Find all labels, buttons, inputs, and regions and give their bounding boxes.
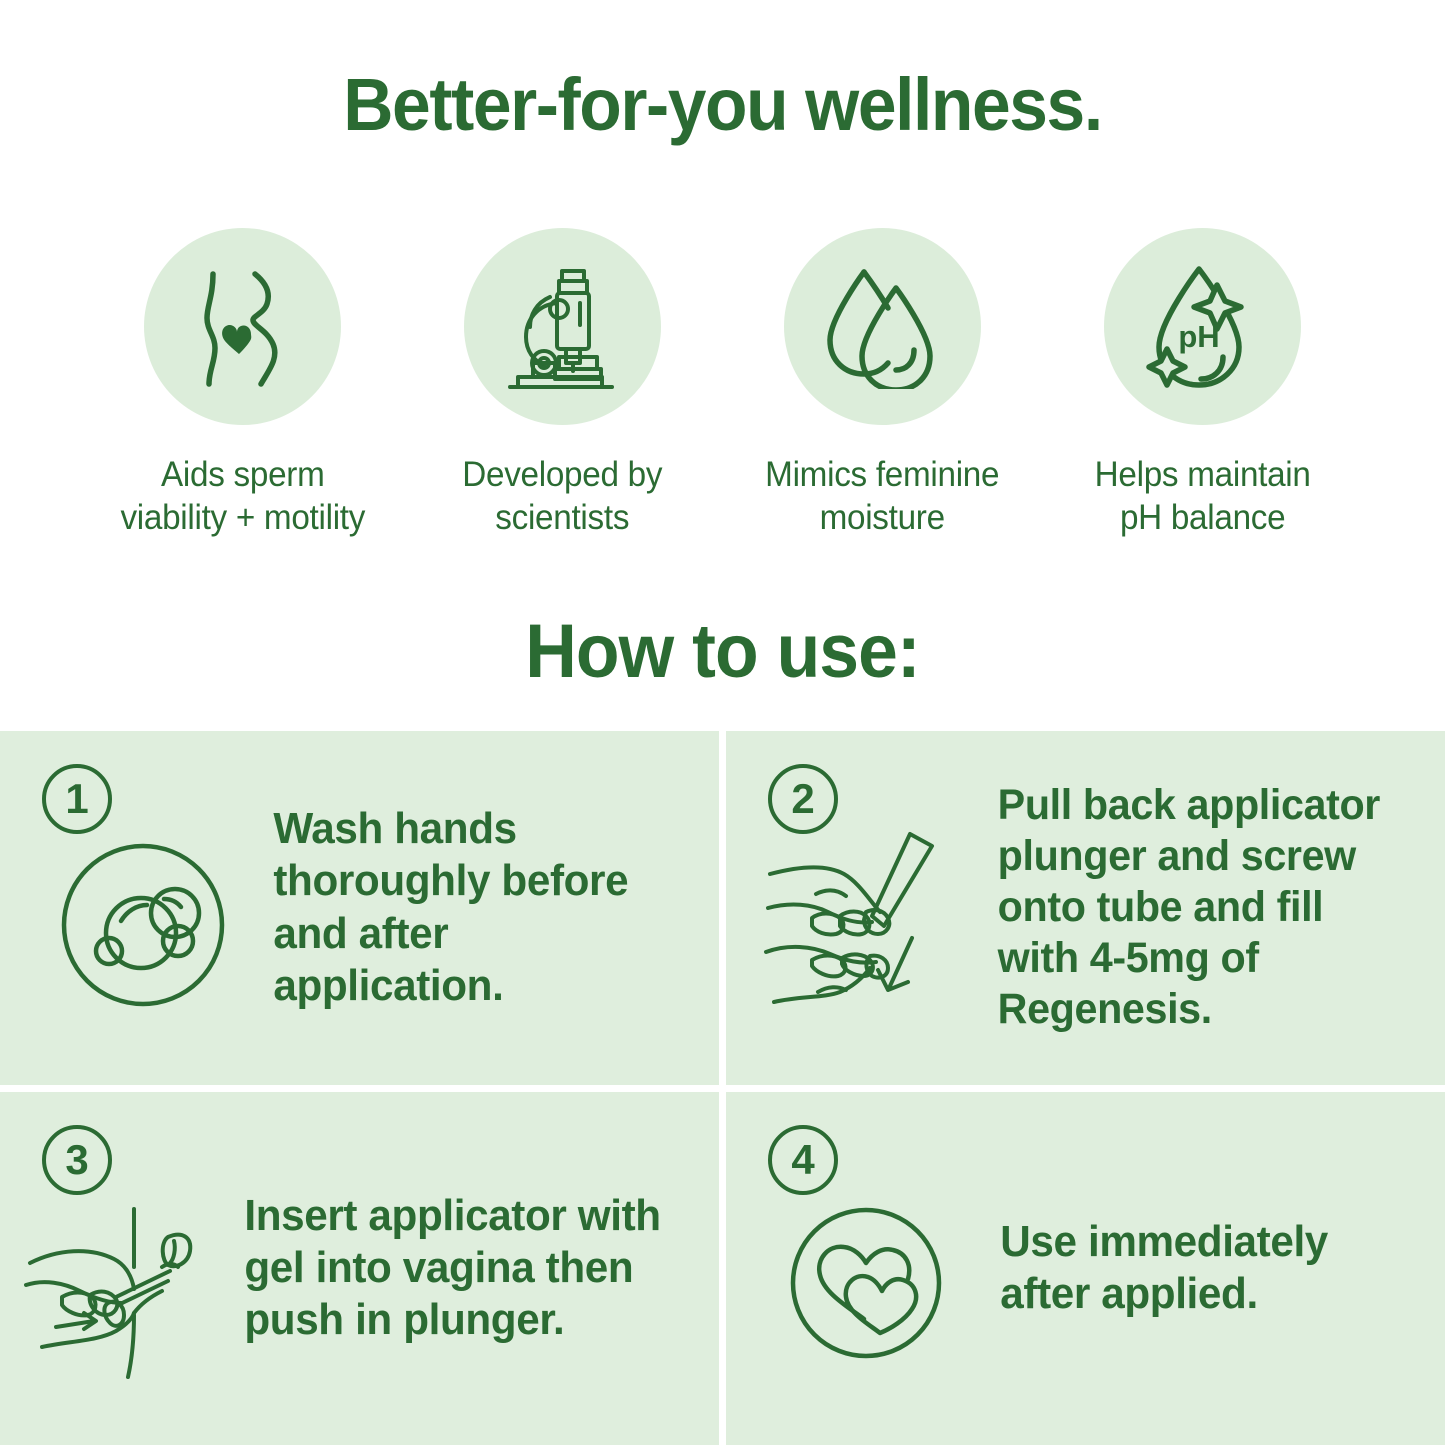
benefit-icon-circle	[144, 228, 341, 425]
svg-text:pH: pH	[1178, 319, 1219, 354]
page-title: Better-for-you wellness.	[43, 62, 1401, 147]
benefit-icon-circle	[464, 228, 661, 425]
benefit-caption: Mimics feminine moisture	[765, 453, 999, 540]
step-number-badge: 1	[42, 764, 112, 834]
benefit-caption: Aids sperm viability + motility	[120, 453, 365, 540]
step-text: Insert applicator with gel into vagina t…	[229, 1190, 686, 1347]
water-droplets-icon	[818, 264, 948, 389]
benefit-item-sperm-viability: Aids sperm viability + motility	[83, 228, 403, 540]
step-card-4: 4 Use immediately after applied.	[726, 1092, 1445, 1445]
step-text: Pull back applicator plunger and screw o…	[990, 780, 1413, 1036]
benefit-item-feminine-moisture: Mimics feminine moisture	[723, 228, 1043, 540]
benefit-caption: Helps maintain pH balance	[1095, 453, 1311, 540]
step-card-2: 2	[726, 731, 1445, 1085]
benefit-icon-circle: pH	[1104, 228, 1301, 425]
ph-droplet-sparkle-icon: pH	[1137, 261, 1269, 393]
two-hearts-circle-icon	[748, 1203, 983, 1363]
benefit-item-ph-balance: pH Helps maintain pH balance	[1043, 228, 1363, 540]
microscope-icon	[500, 263, 625, 391]
step-card-3: 3	[0, 1092, 719, 1445]
hands-applicator-pull-icon	[740, 820, 990, 1025]
benefit-caption: Developed by scientists	[463, 453, 663, 540]
hands-insert-applicator-icon	[14, 1201, 229, 1381]
pregnant-body-heart-icon	[183, 262, 303, 392]
step-number-badge: 2	[768, 764, 838, 834]
howto-heading: How to use:	[43, 608, 1401, 695]
howto-steps-grid: 1 Wash hands thoroughly before and after…	[0, 731, 1445, 1445]
soap-bubbles-circle-icon	[28, 841, 258, 1009]
step-text: Use immediately after applied.	[983, 1216, 1413, 1321]
step-text: Wash hands thoroughly before and after a…	[258, 803, 687, 1012]
step-number-badge: 3	[42, 1125, 112, 1195]
infographic-page: Better-for-you wellness. Aids sperm viab…	[0, 0, 1445, 1445]
benefits-row: Aids sperm viability + motility	[0, 228, 1445, 540]
benefit-item-developed-by-scientists: Developed by scientists	[403, 228, 723, 540]
benefit-icon-circle	[784, 228, 981, 425]
step-card-1: 1 Wash hands thoroughly before and after…	[0, 731, 719, 1085]
step-number-badge: 4	[768, 1125, 838, 1195]
